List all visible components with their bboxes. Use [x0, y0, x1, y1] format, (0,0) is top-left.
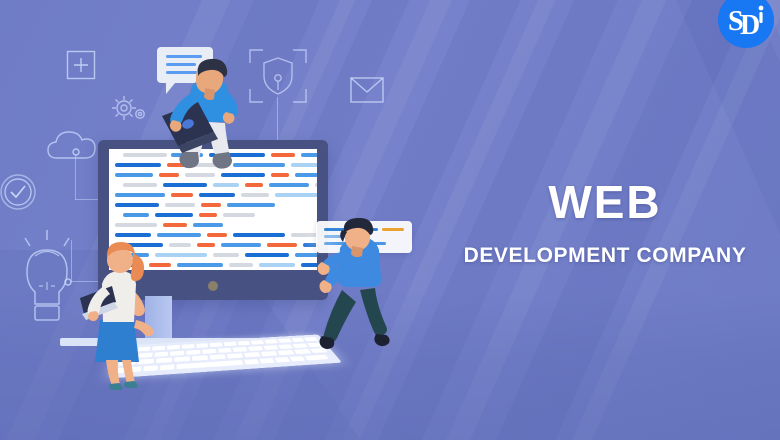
- code-line: [157, 233, 201, 237]
- code-line: [115, 173, 153, 177]
- keyboard-key[interactable]: [170, 350, 184, 355]
- code-line: [233, 233, 285, 237]
- keyboard-key[interactable]: [227, 353, 243, 358]
- keyboard-key[interactable]: [196, 343, 209, 348]
- headline-secondary: DEVELOPMENT COMPANY: [436, 244, 774, 267]
- developer-on-monitor: [158, 58, 264, 190]
- keyboard-key[interactable]: [278, 344, 293, 349]
- code-line: [115, 163, 161, 167]
- keyboard-key[interactable]: [167, 345, 179, 350]
- headline-block: WEB DEVELOPMENT COMPANY: [436, 178, 774, 267]
- keyboard-key[interactable]: [210, 342, 223, 347]
- svg-text:D: D: [740, 10, 760, 41]
- code-line: [115, 203, 159, 207]
- keyboard-key[interactable]: [160, 364, 174, 370]
- keyboard-key[interactable]: [289, 356, 305, 361]
- code-line: [169, 243, 191, 247]
- code-line: [303, 243, 317, 247]
- headline-primary: WEB: [436, 178, 774, 226]
- connector-line: [277, 97, 278, 145]
- code-line: [201, 203, 221, 207]
- code-line: [301, 153, 317, 157]
- keyboard-key[interactable]: [293, 343, 309, 348]
- code-line: [315, 183, 317, 187]
- keyboard-key[interactable]: [259, 358, 274, 364]
- code-line: [295, 253, 317, 257]
- web-development-banner: S D WEB DEVELOPMENT COMPANY: [0, 0, 780, 440]
- code-line: [207, 233, 227, 237]
- code-line: [193, 223, 223, 227]
- keyboard-key[interactable]: [261, 351, 278, 356]
- code-line: [197, 243, 215, 247]
- code-line: [227, 203, 275, 207]
- code-line: [291, 163, 317, 167]
- keyboard-key[interactable]: [233, 347, 248, 352]
- keyboard-key[interactable]: [224, 342, 237, 347]
- code-line: [155, 253, 207, 257]
- keyboard-key[interactable]: [248, 346, 263, 351]
- power-button-icon[interactable]: [208, 281, 218, 291]
- connector-line: [75, 155, 76, 200]
- code-line: [223, 213, 255, 217]
- keyboard-key[interactable]: [274, 357, 290, 362]
- code-line: [245, 253, 289, 257]
- keyboard-key[interactable]: [263, 345, 278, 350]
- keyboard-key[interactable]: [244, 359, 259, 365]
- code-line: [123, 213, 149, 217]
- keyboard-key[interactable]: [277, 350, 294, 355]
- keyboard-key[interactable]: [264, 339, 278, 343]
- code-line: [271, 173, 289, 177]
- code-line: [199, 213, 217, 217]
- code-line: [199, 193, 235, 197]
- keyboard-key[interactable]: [186, 350, 200, 355]
- code-line: [229, 263, 253, 267]
- code-line: [155, 213, 193, 217]
- code-line: [221, 243, 261, 247]
- sd-logo[interactable]: S D: [718, 0, 774, 48]
- code-line: [301, 263, 317, 267]
- code-line: [163, 223, 187, 227]
- keyboard-key[interactable]: [291, 338, 305, 342]
- code-line: [275, 193, 317, 197]
- keyboard-key[interactable]: [237, 341, 250, 346]
- code-line: [267, 243, 297, 247]
- keyboard-key[interactable]: [278, 338, 292, 342]
- code-line: [177, 263, 223, 267]
- connector-line: [71, 240, 72, 282]
- code-line: [115, 193, 165, 197]
- code-line: [271, 153, 295, 157]
- code-line: [295, 173, 317, 177]
- keyboard-key[interactable]: [202, 349, 216, 354]
- keyboard-key[interactable]: [174, 356, 190, 362]
- keyboard-key[interactable]: [294, 349, 311, 354]
- keyboard-key[interactable]: [210, 354, 226, 359]
- code-line: [269, 183, 309, 187]
- code-line: [123, 183, 157, 187]
- man-pushing-panel: [316, 218, 402, 368]
- code-line: [259, 263, 295, 267]
- code-line: [115, 223, 157, 227]
- code-line: [213, 253, 239, 257]
- keyboard-key[interactable]: [251, 340, 264, 345]
- keyboard-key[interactable]: [192, 355, 208, 361]
- woman-with-laptop: [78, 236, 162, 390]
- keyboard-key[interactable]: [182, 344, 194, 349]
- code-line: [171, 193, 193, 197]
- code-line: [165, 203, 195, 207]
- keyboard-key[interactable]: [244, 352, 261, 357]
- code-line: [291, 233, 317, 237]
- keyboard-key[interactable]: [217, 348, 232, 353]
- code-line: [241, 193, 269, 197]
